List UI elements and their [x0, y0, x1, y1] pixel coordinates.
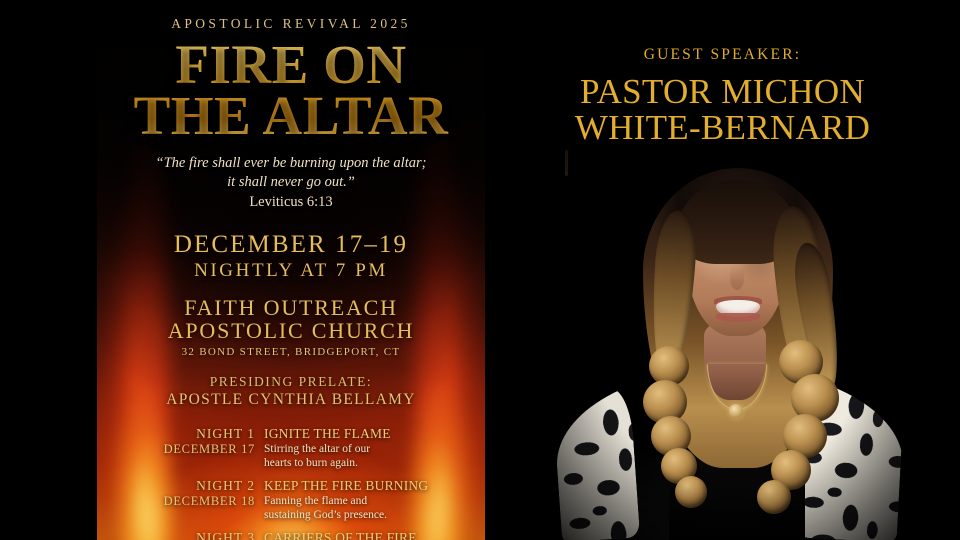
schedule-row-when: NIGHT 1 DECEMBER 17 — [131, 426, 264, 457]
schedule-row-detail: KEEP THE FIRE BURNING Fanning the flame … — [264, 478, 485, 522]
presiding-prelate: PRESIDING PRELATE: APOSTLE CYNTHIA BELLA… — [97, 374, 485, 409]
night-number: NIGHT 2 — [131, 478, 255, 494]
hair-curl — [675, 476, 707, 508]
event-title: FIRE ON THE ALTAR — [97, 39, 485, 141]
necklace-pendant — [729, 404, 743, 418]
schedule-row-detail: CARRIERS OF THE FIRE Becoming living alt… — [264, 530, 485, 540]
scripture-quote: “The fire shall ever be burning upon the… — [97, 154, 485, 191]
night-description-line-1: Stirring the altar of our — [264, 442, 485, 456]
event-flyer: APOSTOLIC REVIVAL 2025 FIRE ON THE ALTAR… — [97, 0, 485, 540]
guest-speaker-name-line-1: PASTOR MICHON — [580, 72, 865, 111]
venue-name-line-1: FAITH OUTREACH — [97, 296, 485, 319]
night-description-line-2: hearts to burn again. — [264, 456, 485, 470]
schedule-row: NIGHT 1 DECEMBER 17 IGNITE THE FLAME Sti… — [131, 426, 485, 470]
scripture-quote-line-2: it shall never go out.” — [97, 173, 485, 192]
event-time: NIGHTLY AT 7 PM — [97, 260, 485, 282]
night-description-line-2: sustaining God’s presence. — [264, 508, 485, 522]
hair-curl — [757, 480, 791, 514]
prelate-label: PRESIDING PRELATE: — [97, 374, 485, 390]
guest-speaker-name-line-2: WHITE-BERNARD — [485, 110, 960, 146]
event-kicker: APOSTOLIC REVIVAL 2025 — [97, 16, 485, 32]
event-venue: FAITH OUTREACH APOSTOLIC CHURCH 32 BOND … — [97, 296, 485, 357]
prelate-name: APOSTLE CYNTHIA BELLAMY — [97, 391, 485, 409]
nightly-schedule: NIGHT 1 DECEMBER 17 IGNITE THE FLAME Sti… — [97, 426, 485, 540]
schedule-row-when: NIGHT 3 DECEMBER 19 — [131, 530, 264, 540]
night-number: NIGHT 3 — [131, 530, 255, 540]
schedule-row-detail: IGNITE THE FLAME Stirring the altar of o… — [264, 426, 485, 470]
night-number: NIGHT 1 — [131, 426, 255, 442]
flyer-content: APOSTOLIC REVIVAL 2025 FIRE ON THE ALTAR… — [97, 0, 485, 540]
speaker-heading: GUEST SPEAKER: PASTOR MICHON WHITE-BERNA… — [485, 46, 960, 145]
schedule-row: NIGHT 2 DECEMBER 18 KEEP THE FIRE BURNIN… — [131, 478, 485, 522]
blazer-lapel-left — [557, 387, 640, 540]
schedule-row-when: NIGHT 2 DECEMBER 18 — [131, 478, 264, 509]
night-date: DECEMBER 18 — [131, 494, 255, 509]
portrait-lower-lip — [716, 313, 760, 322]
night-theme: KEEP THE FIRE BURNING — [264, 478, 485, 494]
portrait-hair-part — [565, 150, 568, 176]
guest-speaker-name: PASTOR MICHON WHITE-BERNARD — [485, 74, 960, 145]
event-title-line-2: THE ALTAR — [97, 90, 485, 141]
flyer-stage: APOSTOLIC REVIVAL 2025 FIRE ON THE ALTAR… — [0, 0, 960, 540]
speaker-portrait — [565, 150, 895, 540]
scripture-reference: Leviticus 6:13 — [97, 194, 485, 211]
night-date: DECEMBER 17 — [131, 442, 255, 457]
portrait-nose — [730, 266, 744, 290]
event-date-range: DECEMBER 17–19 — [97, 231, 485, 259]
event-dates: DECEMBER 17–19 NIGHTLY AT 7 PM — [97, 231, 485, 282]
venue-name-line-2: APOSTOLIC CHURCH — [97, 319, 485, 342]
schedule-row: NIGHT 3 DECEMBER 19 CARRIERS OF THE FIRE… — [131, 530, 485, 540]
scripture-quote-line-1: “The fire shall ever be burning upon the… — [97, 154, 485, 173]
night-description-line-1: Fanning the flame and — [264, 494, 485, 508]
venue-address: 32 BOND STREET, BRIDGEPORT, CT — [97, 346, 485, 358]
speaker-panel: GUEST SPEAKER: PASTOR MICHON WHITE-BERNA… — [485, 0, 960, 540]
night-theme: CARRIERS OF THE FIRE — [264, 530, 485, 540]
night-theme: IGNITE THE FLAME — [264, 426, 485, 442]
guest-speaker-label: GUEST SPEAKER: — [485, 46, 960, 64]
